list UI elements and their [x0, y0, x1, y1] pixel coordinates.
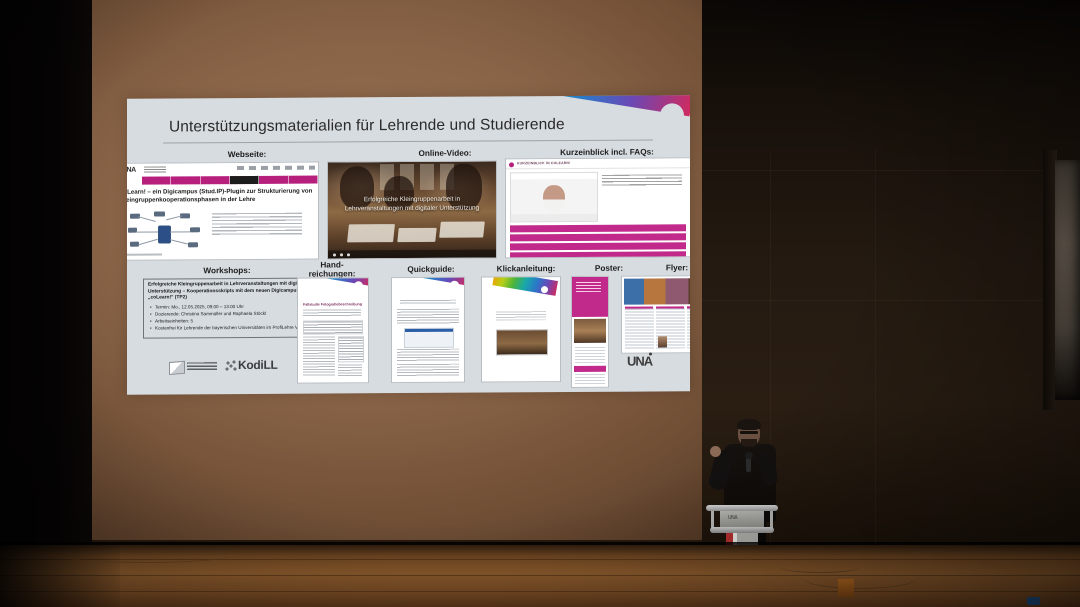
video-overlay-caption: Erfolgreiche Kleingruppenarbeit in Lehrv…: [338, 194, 486, 214]
website-body-text: [212, 213, 302, 236]
stiftung-box-icon: [169, 361, 185, 375]
quickguide-screenshot: [404, 328, 454, 348]
webseite-thumbnail[interactable]: UNA coLearn! – ein Digicampus (Stud.IP)-…: [127, 162, 319, 261]
play-circle-icon: [509, 162, 514, 167]
floor-cable-right-2: [780, 562, 860, 573]
glasses-icon: [740, 431, 758, 434]
title-divider: [163, 140, 653, 144]
presenter-left-hand: [710, 446, 721, 457]
klickanleitung-thumbnail[interactable]: [481, 276, 561, 382]
handreichung-title: Fallstudie Fotografiebeschreibung: [303, 302, 362, 306]
kurzeinblick-faq-thumbnail[interactable]: KURZEINBLICK IN COLEARN!: [505, 157, 690, 258]
section-label-kurzeinblick-faqs: Kurzeinblick incl. FAQs:: [527, 147, 687, 157]
una-accent-dot: [649, 353, 652, 356]
floor-blue-marker: [1027, 597, 1040, 605]
una-wordmark: UNA: [627, 354, 652, 369]
una-logo-subtext: [144, 166, 166, 173]
flyer-portrait-1: [658, 336, 667, 347]
presentation-slide: Unterstützungsmaterialien für Lehrende u…: [127, 95, 690, 394]
doc-puzzle-icon: [354, 281, 363, 290]
website-headline: coLearn! – ein Digicampus (Stud.IP)-Plug…: [127, 188, 316, 206]
rainbow-corner-decoration: [364, 95, 690, 116]
poster-photo: [574, 319, 606, 343]
doc-rainbow-decoration: [492, 276, 558, 296]
presenter-beard: [741, 439, 757, 447]
nav-item-kooperation[interactable]: [230, 176, 259, 184]
left-dark-wall: [0, 0, 92, 607]
handreichungen-thumbnail[interactable]: Fallstudie Fotografiebeschreibung: [297, 277, 369, 383]
nav-item-weiterbildung[interactable]: [201, 176, 230, 184]
nav-item-forschung[interactable]: [171, 176, 200, 184]
floor-cable-left: [60, 548, 230, 563]
flyer-photo-strip: [624, 278, 690, 305]
una-logo-icon: UNA: [127, 167, 136, 174]
faq-player-topbar: [511, 173, 597, 180]
microphone-head: [745, 452, 753, 459]
doc-puzzle-icon: [541, 286, 548, 293]
faq-question-2[interactable]: [510, 233, 686, 241]
stiftung-wordmark: [187, 362, 217, 371]
projection-screen: Unterstützungsmaterialien für Lehrende u…: [92, 0, 702, 548]
klickanleitung-photo: [496, 329, 548, 355]
puzzle-piece-stem-icon: [665, 117, 679, 133]
flyer-thumbnail[interactable]: [621, 275, 690, 354]
website-navbar[interactable]: [142, 176, 318, 185]
floor-equipment-box: [838, 579, 854, 597]
quickguide-thumbnail[interactable]: [391, 277, 465, 383]
nav-item-studium[interactable]: [142, 176, 171, 184]
faq-question-3[interactable]: [510, 242, 686, 250]
section-label-handreichungen: Hand- reichungen:: [289, 260, 375, 279]
workshop-bullet-list: •Termin: Mo., 12.05.2025, 09:00 – 13:00 …: [148, 303, 316, 332]
lecture-hall-scene: Unterstützungsmaterialien für Lehrende u…: [0, 0, 1080, 607]
lectern-desktop: [706, 505, 778, 511]
section-label-poster: Poster:: [571, 264, 647, 274]
faq-player-controls[interactable]: [511, 214, 597, 222]
doc-puzzle-icon: [450, 281, 459, 290]
workshop-bullet: •Kostenfrei für Lehrende der bayerischen…: [155, 324, 316, 332]
website-footer-line: [127, 254, 162, 256]
phone-icon: [158, 225, 171, 243]
faq-header-text: KURZEINBLICK IN COLEARN!: [517, 161, 570, 165]
nav-item-universitaet[interactable]: [289, 176, 318, 184]
kodill-wordmark: KodiLL: [238, 358, 278, 372]
lectern-logo: UNA: [728, 515, 737, 521]
section-label-online-video: Online-Video:: [385, 148, 505, 158]
website-meta-links: [237, 166, 315, 170]
video-control-bar[interactable]: [328, 249, 496, 258]
doorway-light: [1055, 160, 1080, 400]
online-video-thumbnail[interactable]: Erfolgreiche Kleingruppenarbeit in Lehrv…: [327, 160, 497, 259]
faq-video-player[interactable]: [510, 172, 598, 223]
section-label-klickanleitung: Klickanleitung:: [473, 264, 579, 274]
section-label-webseite: Webseite:: [187, 150, 307, 160]
faq-question-1[interactable]: [510, 224, 686, 232]
faq-question-4[interactable]: [510, 251, 686, 258]
workshop-title: Erfolgreiche Kleingruppenarbeit in Lehrv…: [148, 282, 316, 303]
section-label-workshops: Workshops:: [167, 266, 287, 276]
faq-header-bar: KURZEINBLICK IN COLEARN!: [506, 158, 690, 169]
kodill-dots-icon: [225, 360, 237, 372]
section-label-quickguide: Quickguide:: [383, 265, 479, 275]
workshop-textbox: Erfolgreiche Kleingruppenarbeit in Lehrv…: [143, 278, 321, 339]
poster-thumbnail[interactable]: [571, 276, 609, 388]
presenter-hair: [737, 419, 761, 430]
faq-intro-text: [602, 174, 682, 186]
section-label-flyer: Flyer:: [639, 263, 690, 273]
poster-header: [572, 277, 608, 317]
slide-title: Unterstützungsmaterialien für Lehrende u…: [169, 116, 565, 136]
nav-item-campusleben[interactable]: [259, 176, 288, 184]
presenter-face: [543, 185, 565, 211]
website-diagram: [128, 211, 202, 251]
